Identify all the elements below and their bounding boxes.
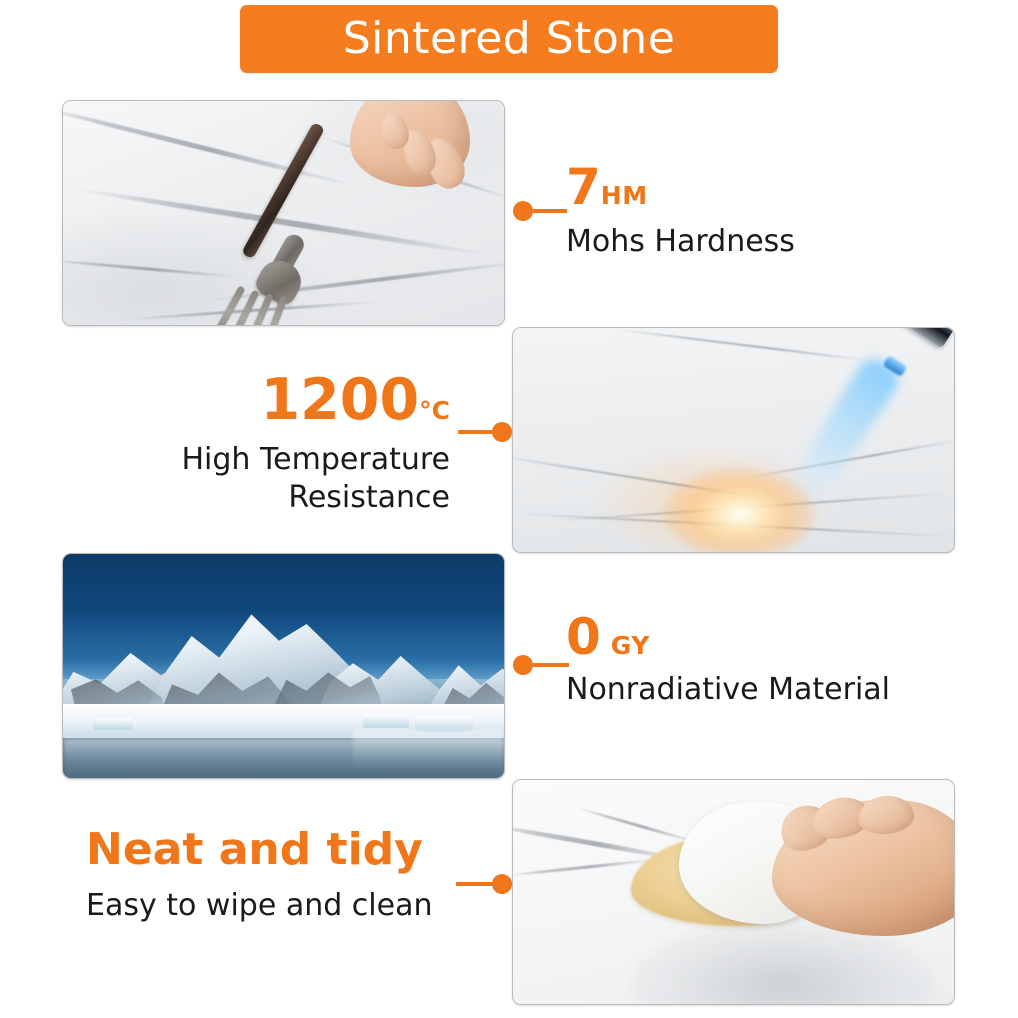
radiation-headline: 0GY (566, 612, 890, 662)
feature-image-radiation (62, 553, 505, 779)
infographic-canvas: Sintered Stone (0, 0, 1018, 1018)
feature-hardness: 7HM Mohs Hardness (566, 162, 795, 259)
temperature-label-line1: High Temperature (100, 441, 450, 479)
feature-image-hardness (62, 100, 505, 326)
ice-chunk (363, 714, 409, 728)
mountain-photo (63, 554, 504, 778)
connector-hardness (513, 201, 573, 221)
feature-temperature: 1200°C High Temperature Resistance (100, 372, 450, 518)
hardness-label: Mohs Hardness (566, 224, 795, 259)
radiation-label: Nonradiative Material (566, 672, 890, 707)
flame-hotspot (665, 468, 815, 552)
connector-line (458, 430, 494, 434)
radiation-unit: GY (611, 631, 650, 660)
title-banner: Sintered Stone (240, 5, 778, 73)
connector-line (456, 882, 494, 886)
connector-dot-icon (492, 422, 512, 442)
connector-dot-icon (513, 655, 533, 675)
hardness-value: 7 (566, 158, 601, 216)
temperature-headline: 1200°C (100, 372, 450, 429)
page-title: Sintered Stone (343, 17, 676, 61)
feature-radiation: 0GY Nonradiative Material (566, 612, 890, 707)
cleaning-headline: Neat and tidy (86, 828, 450, 872)
connector-dot-icon (513, 201, 533, 221)
hardness-headline: 7HM (566, 162, 795, 212)
cleaning-label: Easy to wipe and clean (86, 888, 450, 923)
wipe-photo (513, 780, 954, 1004)
feature-image-cleaning (512, 779, 955, 1005)
water-reflection (353, 730, 503, 770)
feature-image-temperature (512, 327, 955, 553)
connector-dot-icon (492, 874, 512, 894)
radiation-value: 0 (566, 608, 601, 666)
connector-line (533, 209, 567, 213)
ice-chunk (93, 718, 133, 730)
temperature-unit: °C (419, 396, 450, 425)
temperature-label-line2: Resistance (100, 479, 450, 517)
fork-photo (63, 101, 504, 325)
connector-line (533, 663, 569, 667)
hardness-unit: HM (601, 181, 648, 210)
connector-temperature (452, 422, 512, 442)
temperature-value: 1200 (260, 367, 419, 433)
connector-cleaning (452, 874, 512, 894)
torch-photo (513, 328, 954, 552)
temperature-label: High Temperature Resistance (100, 441, 450, 518)
feature-cleaning: Neat and tidy Easy to wipe and clean (86, 828, 450, 923)
